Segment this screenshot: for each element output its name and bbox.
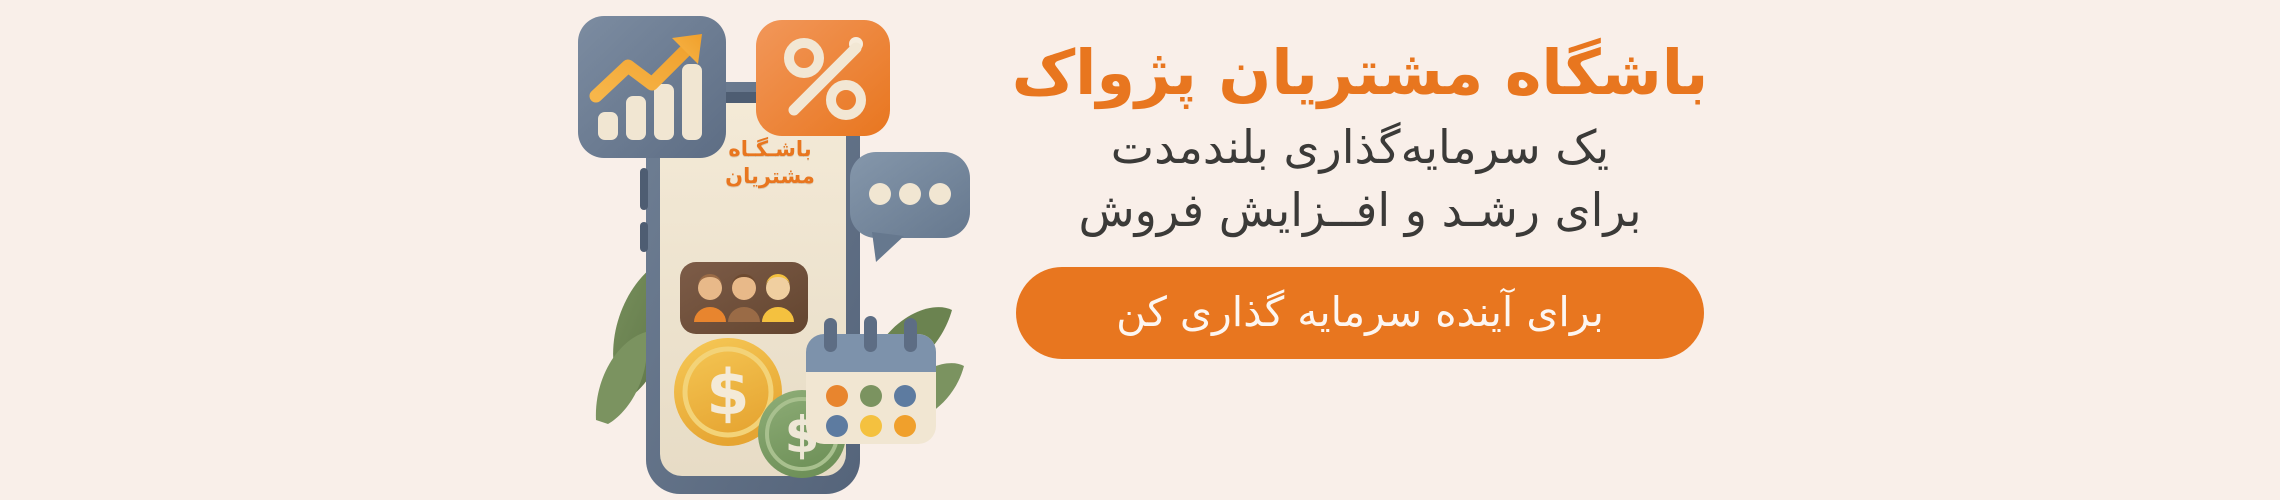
- banner-illustration: $ $ باشـگـاه: [560, 0, 980, 500]
- banner-subtitle-line-1: یک سرمایه‌گذاری بلندمدت: [1000, 117, 1720, 178]
- members-card: [680, 262, 808, 334]
- chat-bubble: [850, 152, 970, 262]
- cta-container: برای آینده سرمایه گذاری کن: [1000, 267, 1720, 359]
- banner-text-block: باشگاه مشتریان پژواک یک سرمایه‌گذاری بلن…: [1000, 38, 1720, 359]
- banner-headline: باشگاه مشتریان پژواک: [1000, 38, 1720, 107]
- svg-text:$: $: [706, 356, 749, 429]
- promo-banner: $ $ باشـگـاه: [0, 0, 2280, 500]
- growth-chart-card: [578, 16, 726, 158]
- banner-subtitle-line-2: برای رشـد و افــزایش فروش: [1000, 180, 1720, 241]
- discount-percent-tag: [756, 20, 890, 136]
- calendar-card: [806, 316, 936, 444]
- invest-cta-button[interactable]: برای آینده سرمایه گذاری کن: [1016, 267, 1704, 359]
